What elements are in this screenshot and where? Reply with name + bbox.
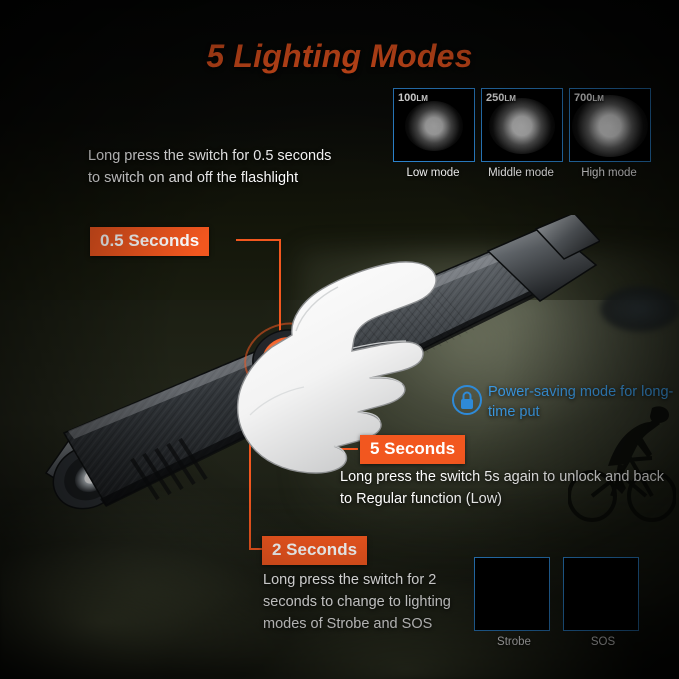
- lock-icon: [452, 385, 482, 415]
- bottom-mode-thumbnails: Strobe SOS: [474, 557, 643, 648]
- mode-cell-sos: SOS: [563, 557, 643, 648]
- mode-cell-high: 700LM High mode: [569, 88, 649, 179]
- mode-cell-low: 100LM Low mode: [393, 88, 473, 179]
- background-pond: [600, 286, 679, 332]
- beam-glow: [405, 101, 463, 151]
- lumens-value: 100: [398, 92, 416, 104]
- top-mode-thumbnails: 100LM Low mode 250LM Middle mode 700LM H…: [393, 88, 649, 179]
- badge-5-seconds: 5 Seconds: [360, 435, 465, 464]
- lumens-value: 700: [574, 92, 592, 104]
- lumens-unit: LM: [504, 94, 516, 103]
- callout-text-5-seconds: Long press the switch 5s again to unlock…: [340, 467, 670, 511]
- lumens-unit: LM: [592, 94, 604, 103]
- callout-text-2-seconds: Long press the switch for 2 seconds to c…: [263, 570, 473, 635]
- mode-caption-high: High mode: [569, 167, 649, 179]
- beam-glow: [564, 558, 622, 610]
- mode-caption-sos: SOS: [563, 636, 643, 648]
- mode-thumb-sos: [563, 557, 639, 631]
- mode-caption-middle: Middle mode: [481, 167, 561, 179]
- lumens-label-low: 100LM: [398, 92, 428, 104]
- mode-thumb-middle: 250LM: [481, 88, 563, 162]
- lumens-value: 250: [486, 92, 504, 104]
- mode-caption-strobe: Strobe: [474, 636, 554, 648]
- beam-glow: [489, 98, 555, 154]
- page-title: 5 Lighting Modes: [0, 38, 679, 75]
- mode-thumb-strobe: [474, 557, 550, 631]
- beam-glow: [572, 95, 648, 157]
- product-infographic: 5 Lighting Modes 100LM Low mode 250LM Mi…: [0, 0, 679, 679]
- lumens-label-middle: 250LM: [486, 92, 516, 104]
- badge-05-seconds: 0.5 Seconds: [90, 227, 209, 256]
- mode-thumb-high: 700LM: [569, 88, 651, 162]
- mode-cell-strobe: Strobe: [474, 557, 554, 648]
- lumens-unit: LM: [416, 94, 428, 103]
- power-saving-text: Power-saving mode for long-time put: [488, 383, 679, 422]
- lumens-label-high: 700LM: [574, 92, 604, 104]
- beam-glow: [475, 558, 537, 614]
- mode-cell-middle: 250LM Middle mode: [481, 88, 561, 179]
- mode-thumb-low: 100LM: [393, 88, 475, 162]
- callout-text-05-seconds: Long press the switch for 0.5 seconds to…: [88, 146, 338, 190]
- mode-caption-low: Low mode: [393, 167, 473, 179]
- badge-2-seconds: 2 Seconds: [262, 536, 367, 565]
